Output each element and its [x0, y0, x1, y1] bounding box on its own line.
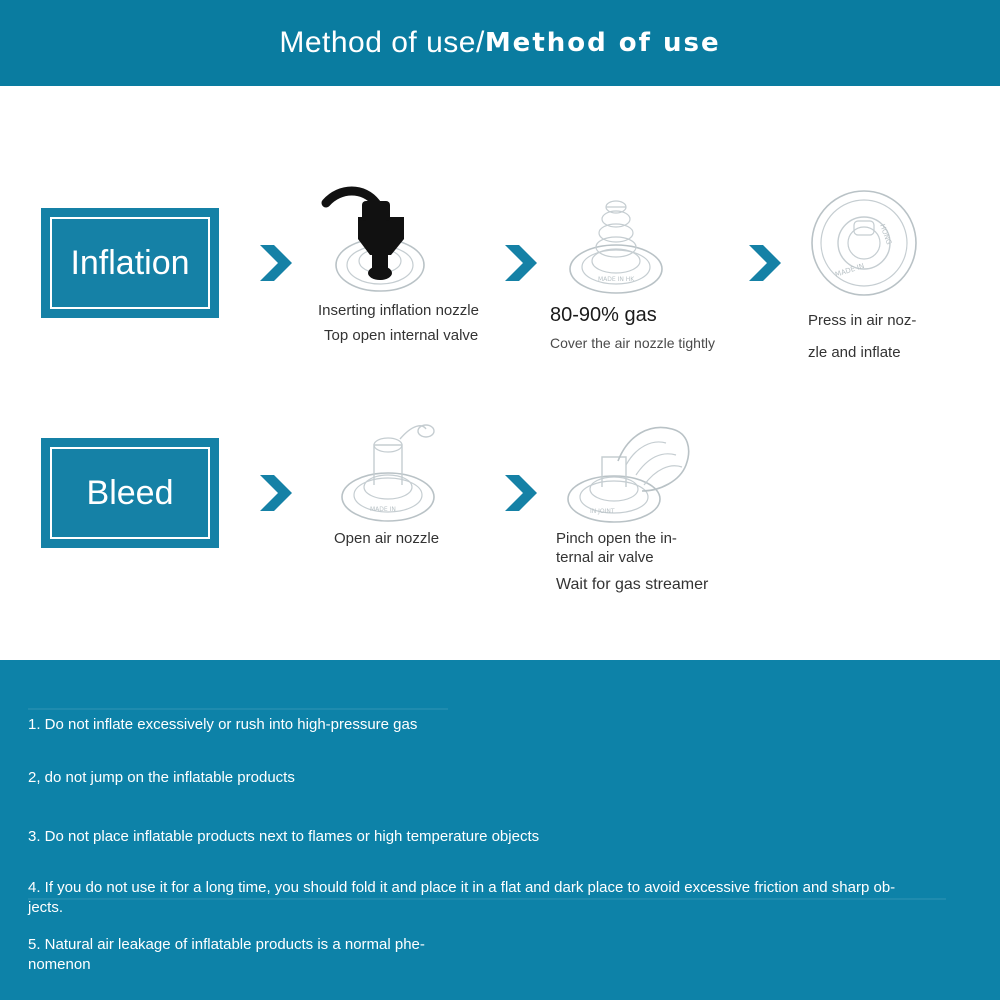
note-item: 1. Do not inflate excessively or rush in… — [28, 715, 972, 735]
step-caption: Open air nozzle — [334, 529, 510, 548]
section-label-bleed: Bleed — [41, 438, 219, 548]
page-header: Method of use/ Method of use — [0, 0, 1000, 86]
step-pinch-valve: IN JOINT Pinch open the in- ternal air v… — [556, 399, 786, 594]
air-nozzle-cap-icon: MADE IN HONG — [808, 181, 978, 303]
svg-text:IN JOINT: IN JOINT — [590, 508, 615, 515]
note-item: 2, do not jump on the inflatable product… — [28, 768, 972, 788]
note-item: 3. Do not place inflatable products next… — [28, 827, 972, 847]
note-item: 5. Natural air leakage of inflatable pro… — [28, 935, 972, 975]
svg-text:MADE IN HK: MADE IN HK — [598, 276, 635, 283]
step-press-nozzle: MADE IN HONG Press in air noz- zle and i… — [808, 181, 978, 369]
step-caption: Pinch open the in- ternal air valve — [556, 529, 786, 567]
section-bleed: Bleed — [0, 411, 1000, 611]
chevron-right-icon — [747, 243, 781, 283]
section-inflation: Inflation — [0, 181, 1000, 381]
step-caption-secondary: Top open internal valve — [324, 326, 488, 345]
chevron-right-icon — [258, 243, 292, 283]
step-cover-nozzle: MADE IN HK 80-90% gas Cover the air nozz… — [550, 181, 740, 352]
main-content: Inflation — [0, 86, 1000, 660]
artifact-streak — [28, 708, 448, 710]
note-item: 4. If you do not use it for a long time,… — [28, 878, 972, 918]
header-title-group: Method of use/ Method of use — [0, 0, 1000, 86]
section-label-inflation: Inflation — [41, 208, 219, 318]
section-label-text: Bleed — [87, 474, 174, 513]
page-title-stylized: Method of use — [485, 28, 721, 58]
chevron-right-icon — [258, 473, 292, 513]
step-caption: Inserting inflation nozzle — [318, 301, 488, 320]
pinch-valve-hand-icon: IN JOINT — [556, 399, 786, 527]
instruction-page: Method of use/ Method of use Inflation — [0, 0, 1000, 1000]
inflation-nozzle-icon — [318, 181, 488, 299]
chevron-right-icon — [503, 243, 537, 283]
step-caption-secondary: Wait for gas streamer — [556, 575, 786, 594]
svg-text:MADE IN: MADE IN — [370, 506, 396, 513]
air-valve-icon: MADE IN HK — [550, 181, 740, 299]
step-caption: Press in air noz- zle and inflate — [808, 305, 978, 369]
step-caption-secondary: Cover the air nozzle tightly — [550, 334, 740, 352]
open-air-nozzle-icon: MADE IN — [330, 399, 510, 527]
footer-notes: 1. Do not inflate excessively or rush in… — [0, 660, 1000, 1000]
step-open-nozzle: MADE IN Open air nozzle — [330, 399, 510, 548]
step-caption: 80-90% gas — [550, 303, 740, 327]
step-insert-nozzle: Inserting inflation nozzle Top open inte… — [318, 181, 488, 345]
section-label-text: Inflation — [70, 244, 189, 283]
chevron-right-icon — [503, 473, 537, 513]
page-title-english: Method of use/ — [279, 26, 484, 60]
